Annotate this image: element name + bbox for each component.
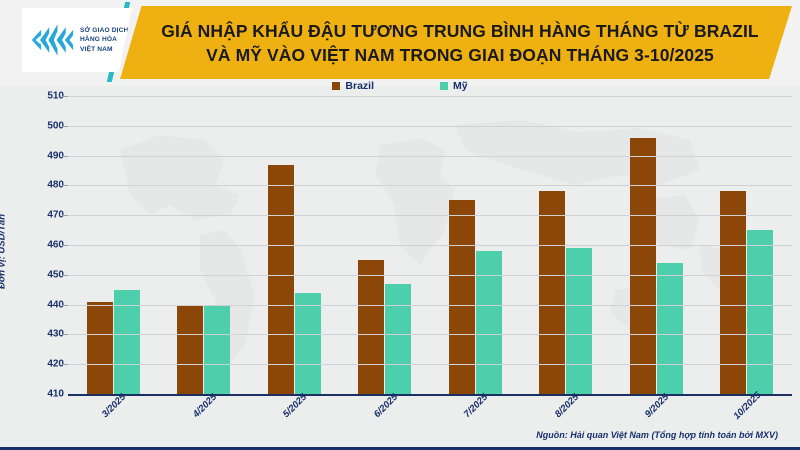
x-tick-cell: 6/2025 [340, 398, 431, 440]
gridline-470 [68, 215, 792, 216]
bar-m-4-2025[interactable] [204, 305, 230, 394]
tick-stub-470 [62, 215, 68, 216]
y-axis-unit-label: Đơn vị: USD/Tấn [0, 214, 8, 289]
source-note: Nguồn: Hải quan Việt Nam (Tổng hợp tính … [536, 430, 778, 440]
logo-line-2: HÀNG HÓA [80, 35, 128, 45]
gridline-420 [68, 364, 792, 365]
logo-line-3: VIỆT NAM [80, 45, 128, 55]
legend-item-brazil[interactable]: Brazil [332, 80, 374, 92]
y-tick-500: 500 [24, 120, 64, 131]
gridline-460 [68, 245, 792, 246]
x-tick-cell: 3/2025 [68, 398, 159, 440]
logo-plate: SỞ GIAO DỊCH HÀNG HÓA VIỆT NAM [22, 8, 132, 72]
logo-wordmark: SỞ GIAO DỊCH HÀNG HÓA VIỆT NAM [80, 26, 128, 55]
y-tick-450: 450 [24, 269, 64, 280]
y-tick-480: 480 [24, 180, 64, 191]
gridline-480 [68, 185, 792, 186]
gridline-490 [68, 156, 792, 157]
mxv-logo-icon [29, 18, 75, 62]
bar-brazil-5-2025[interactable] [268, 165, 294, 394]
chart-legend: Brazil Mỹ [0, 80, 800, 92]
tick-stub-460 [62, 245, 68, 246]
tick-stub-420 [62, 364, 68, 365]
tick-stub-490 [62, 156, 68, 157]
tick-stub-430 [62, 334, 68, 335]
chart-plot-area: Đơn vị: USD/Tấn 510500490480470460450440… [0, 96, 800, 396]
y-tick-430: 430 [24, 329, 64, 340]
y-tick-510: 510 [24, 91, 64, 102]
legend-label-my: Mỹ [453, 80, 468, 92]
y-tick-470: 470 [24, 210, 64, 221]
logo-line-1: SỞ GIAO DỊCH [80, 26, 128, 36]
y-tick-440: 440 [24, 299, 64, 310]
bar-m-5-2025[interactable] [295, 293, 321, 394]
y-tick-460: 460 [24, 240, 64, 251]
tick-stub-440 [62, 305, 68, 306]
bar-m-7-2025[interactable] [476, 251, 502, 394]
legend-item-my[interactable]: Mỹ [440, 80, 468, 92]
x-tick-cell: 5/2025 [249, 398, 340, 440]
bar-m-8-2025[interactable] [566, 248, 592, 394]
header-banner: SỞ GIAO DỊCH HÀNG HÓA VIỆT NAM GIÁ NHẬP … [0, 0, 800, 86]
bar-brazil-3-2025[interactable] [87, 302, 113, 394]
bar-m-9-2025[interactable] [657, 263, 683, 394]
legend-label-brazil: Brazil [345, 80, 374, 92]
legend-swatch-my [440, 82, 448, 90]
y-tick-490: 490 [24, 150, 64, 161]
bar-brazil-9-2025[interactable] [630, 138, 656, 394]
y-tick-420: 420 [24, 359, 64, 370]
tick-stub-450 [62, 275, 68, 276]
x-tick-cell: 7/2025 [430, 398, 521, 440]
y-tick-410: 410 [24, 389, 64, 400]
gridline-510 [68, 96, 792, 97]
bar-m-6-2025[interactable] [385, 284, 411, 394]
x-axis-line [68, 394, 792, 396]
tick-stub-480 [62, 185, 68, 186]
y-axis-tick-labels: 510500490480470460450440430420410 [24, 96, 64, 396]
gridline-500 [68, 126, 792, 127]
x-tick-cell: 4/2025 [159, 398, 250, 440]
bar-m-10-2025[interactable] [747, 230, 773, 394]
gridline-440 [68, 305, 792, 306]
page-title: GIÁ NHẬP KHẨU ĐẬU TƯƠNG TRUNG BÌNH HÀNG … [150, 12, 770, 74]
tick-stub-510 [62, 96, 68, 97]
grid-area [68, 96, 792, 396]
tick-stub-500 [62, 126, 68, 127]
bar-brazil-4-2025[interactable] [177, 305, 203, 394]
bar-brazil-6-2025[interactable] [358, 260, 384, 394]
legend-swatch-brazil [332, 82, 340, 90]
gridline-450 [68, 275, 792, 276]
gridline-430 [68, 334, 792, 335]
